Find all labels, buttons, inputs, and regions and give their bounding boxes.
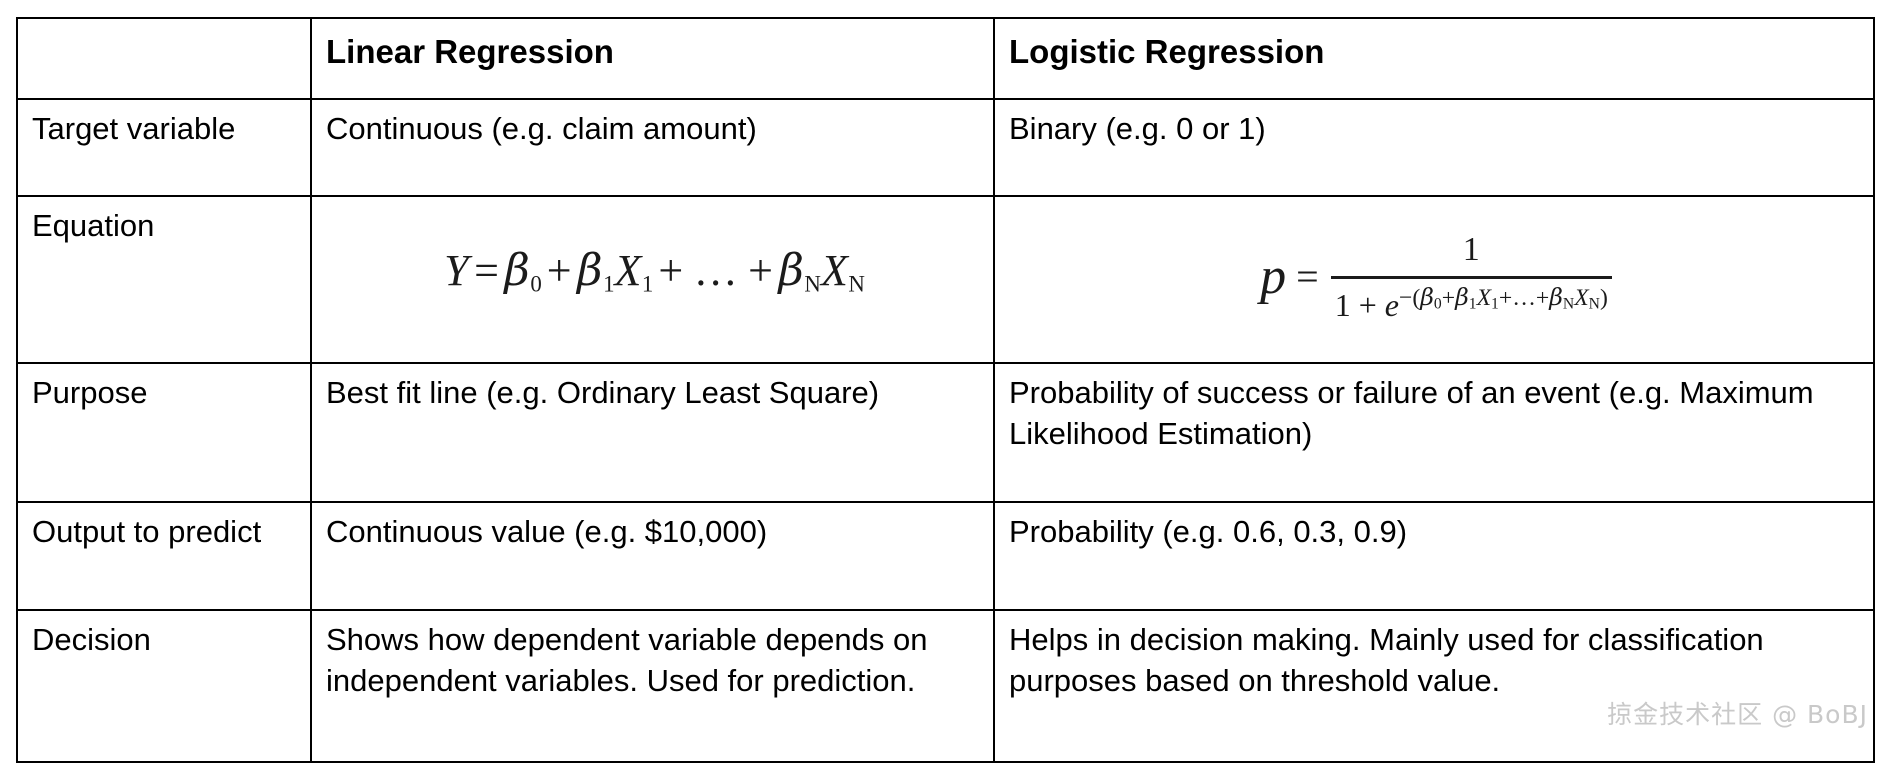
table-row-equation: Equation Y=β0+β1X1+…+βNXN p= 1 [17,196,1874,363]
row-label-output-to-predict: Output to predict [17,502,311,610]
cell-logistic-target-variable: Binary (e.g. 0 or 1) [994,99,1874,196]
table-row-target-variable: Target variable Continuous (e.g. claim a… [17,99,1874,196]
linear-regression-formula: Y=β0+β1X1+…+βNXN [326,206,983,300]
row-label-decision: Decision [17,610,311,762]
header-cell-blank [17,18,311,99]
table-row-decision: Decision Shows how dependent variable de… [17,610,1874,762]
cell-logistic-output-to-predict: Probability (e.g. 0.6, 0.3, 0.9) [994,502,1874,610]
comparison-table: Linear Regression Logistic Regression Ta… [16,17,1875,763]
row-label-purpose: Purpose [17,363,311,502]
header-cell-logistic-regression: Logistic Regression [994,18,1874,99]
cell-logistic-equation: p= 1 1 + e−(β0+β1X1+…+βNXN) [994,196,1874,363]
logistic-regression-formula: p= 1 1 + e−(β0+β1X1+…+βNXN) [1009,206,1863,326]
cell-linear-purpose: Best fit line (e.g. Ordinary Least Squar… [311,363,994,502]
header-cell-linear-regression: Linear Regression [311,18,994,99]
cell-linear-decision: Shows how dependent variable depends on … [311,610,994,762]
watermark: 掠金技术社区 @ BoBJ [1607,695,1868,731]
cell-linear-target-variable: Continuous (e.g. claim amount) [311,99,994,196]
cell-linear-equation: Y=β0+β1X1+…+βNXN [311,196,994,363]
row-label-target-variable: Target variable [17,99,311,196]
table-header-row: Linear Regression Logistic Regression [17,18,1874,99]
document-page: Linear Regression Logistic Regression Ta… [0,0,1890,753]
row-label-equation: Equation [17,196,311,363]
cell-linear-output-to-predict: Continuous value (e.g. $10,000) [311,502,994,610]
table-row-output-to-predict: Output to predict Continuous value (e.g.… [17,502,1874,610]
cell-logistic-decision: Helps in decision making. Mainly used fo… [994,610,1874,762]
cell-logistic-purpose: Probability of success or failure of an … [994,363,1874,502]
table-row-purpose: Purpose Best fit line (e.g. Ordinary Lea… [17,363,1874,502]
